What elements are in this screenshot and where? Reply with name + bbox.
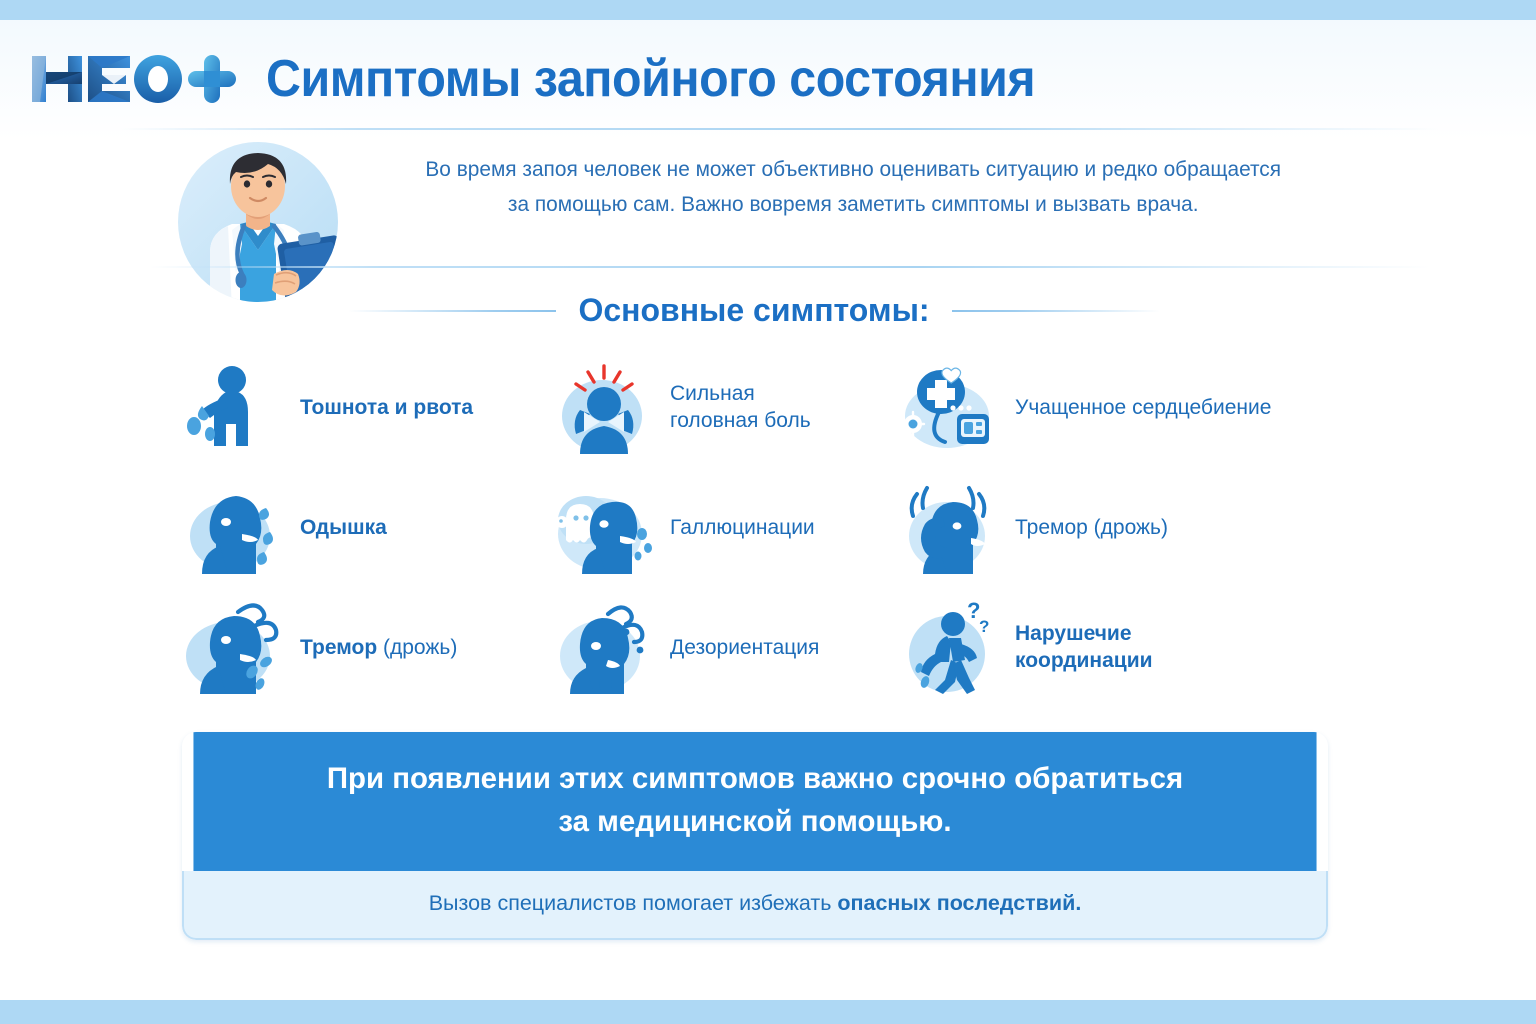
- symptom-label: Учащенное сердцебиение: [1015, 395, 1271, 422]
- header-divider: [120, 128, 1440, 130]
- heading-rule-right: [952, 310, 1160, 312]
- symptom-item-coordination: ? ? Нарушечие координации: [895, 598, 1340, 698]
- cta-sub-prefix: Вызов специалистов помогает избежать: [429, 891, 838, 915]
- bottom-decorative-band: [0, 1000, 1536, 1024]
- intro-block: Во время запоя человек не может объектив…: [170, 138, 1350, 258]
- intro-text: Во время запоя человек не может объектив…: [385, 138, 1336, 222]
- heart-rate-monitor-icon: [895, 358, 1003, 458]
- symptom-label: Тремор (дрожь): [300, 635, 457, 662]
- cta-main-line-1: При появлении этих симптомов важно срочн…: [233, 758, 1278, 801]
- cta-sub-text: Вызов специалистов помогает избежать опа…: [182, 871, 1328, 940]
- symptom-item-dyspnea: Одышка: [180, 478, 550, 578]
- neo-plus-logo: [30, 48, 240, 110]
- tremor-head-shaking-icon: [895, 478, 1003, 578]
- symptom-label: Галлюцинации: [670, 515, 815, 542]
- coordination-problem-walking-icon: ? ?: [895, 598, 1003, 698]
- symptom-label: Тремор (дрожь): [1015, 515, 1168, 542]
- intro-line-1: Во время запоя человек не может объектив…: [385, 152, 1322, 187]
- vomiting-person-icon: [180, 358, 288, 458]
- header: Симптомы запойного состояния: [30, 38, 1506, 120]
- symptom-item-hallucinations: Галлюцинации: [550, 478, 895, 578]
- symptom-item-tremor-head: Тремор (дрожь): [895, 478, 1340, 578]
- cta-sub-emphasis: опасных последствий.: [837, 891, 1081, 915]
- call-to-action-banner: При появлении этих симптомов важно срочн…: [182, 732, 1328, 940]
- symptom-item-tremor-sweating: Тремор (дрожь): [180, 598, 550, 698]
- cta-main-line-2: за медицинской помощью.: [233, 801, 1278, 844]
- symptom-label: Сильная головная боль: [670, 381, 811, 435]
- symptom-label: Тошнота и рвота: [300, 395, 473, 422]
- symptom-grid: Тошнота и рвота: [180, 348, 1340, 708]
- hallucinations-ghost-icon: [550, 478, 658, 578]
- section-heading: Основные симптомы:: [348, 292, 1160, 329]
- intro-divider: [150, 266, 1430, 268]
- symptom-item-disorientation: Дезориентация: [550, 598, 895, 698]
- svg-text:?: ?: [979, 617, 989, 636]
- shortness-of-breath-icon: [180, 478, 288, 578]
- infographic-canvas: Симптомы запойного состояния: [0, 20, 1536, 1000]
- intro-line-2: за помощью сам. Важно вовремя заметить с…: [385, 187, 1322, 222]
- page-title: Симптомы запойного состояния: [266, 49, 1035, 109]
- symptom-label: Дезориентация: [670, 635, 819, 662]
- disorientation-confused-icon: [550, 598, 658, 698]
- symptom-item-headache: Сильная головная боль: [550, 358, 895, 458]
- section-heading-label: Основные симптомы:: [578, 292, 929, 329]
- cta-main-text: При появлении этих симптомов важно срочн…: [193, 732, 1316, 871]
- symptom-item-tachycardia: Учащенное сердцебиение: [895, 358, 1340, 458]
- heading-rule-left: [348, 310, 556, 312]
- symptom-item-nausea: Тошнота и рвота: [180, 358, 550, 458]
- symptom-label: Одышка: [300, 515, 387, 542]
- headache-person-icon: [550, 358, 658, 458]
- top-decorative-band: [0, 0, 1536, 20]
- symptom-label: Нарушечие координации: [1015, 621, 1153, 675]
- tremor-sweating-icon: [180, 598, 288, 698]
- doctor-with-clipboard-illustration: [170, 134, 350, 309]
